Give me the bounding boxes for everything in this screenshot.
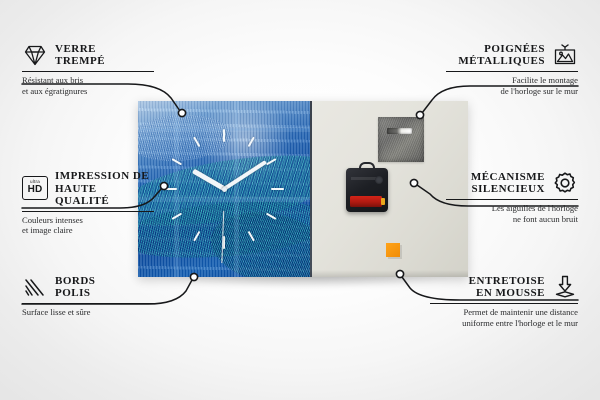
movement-time-set-dial — [375, 176, 383, 184]
hd-badge-hd-text: HD — [28, 185, 43, 195]
clock-tick-3 — [224, 188, 284, 190]
polished-edge-icon — [22, 274, 48, 300]
gear-icon — [552, 170, 578, 196]
foam-spacer — [386, 243, 400, 257]
callout-title: MÉCANISME SILENCIEUX — [471, 171, 545, 196]
callout-title: ENTRETOISE EN MOUSSE — [469, 275, 545, 300]
callout-title: IMPRESSION DE HAUTE QUALITÉ — [55, 170, 154, 208]
clock-center-pivot — [222, 187, 227, 192]
product-photo — [138, 101, 468, 277]
callout-header-row: ultra HD IMPRESSION DE HAUTE QUALITÉ — [22, 170, 154, 208]
foam-spacer-arrow-icon — [552, 274, 578, 300]
callout-title: BORDS POLIS — [55, 275, 95, 300]
callout-underline — [446, 199, 578, 200]
callout-header-row: ENTRETOISE EN MOUSSE — [430, 274, 578, 300]
callout-bords-polis: BORDS POLIS Surface lisse et sûre — [22, 274, 154, 318]
callout-mecanisme-silencieux: MÉCANISME SILENCIEUX Les aiguilles de l'… — [446, 170, 578, 224]
callout-verre-trempe: VERRE TREMPÉ Résistant aux bris et aux é… — [22, 42, 154, 96]
callout-poignees-metalliques: POIGNÉES MÉTALLIQUES Facilite le montage… — [446, 42, 578, 96]
callout-subtitle: Résistant aux bris et aux égratignures — [22, 75, 154, 96]
clock-back-panel — [310, 101, 468, 277]
battery — [350, 196, 382, 207]
callout-entretoise-en-mousse: ENTRETOISE EN MOUSSE Permet de maintenir… — [430, 274, 578, 328]
diamond-icon — [22, 42, 48, 68]
callout-header-row: POIGNÉES MÉTALLIQUES — [446, 42, 578, 68]
callout-impression-hd: ultra HD IMPRESSION DE HAUTE QUALITÉ Cou… — [22, 170, 154, 236]
callout-underline — [430, 303, 578, 304]
clock-front-face — [138, 101, 310, 277]
callout-header-row: MÉCANISME SILENCIEUX — [446, 170, 578, 196]
callout-underline — [22, 303, 154, 304]
callout-subtitle: Surface lisse et sûre — [22, 307, 154, 317]
callout-underline — [446, 71, 578, 72]
clock-side-edge — [310, 101, 312, 277]
callout-subtitle: Les aiguilles de l'horloge ne font aucun… — [446, 203, 578, 224]
wall-mount-frame-icon — [552, 42, 578, 68]
callout-title: VERRE TREMPÉ — [55, 43, 105, 68]
ultra-hd-badge-icon: ultra HD — [22, 176, 48, 202]
clock-tick-9 — [164, 188, 224, 190]
movement-hanger-loop — [359, 162, 375, 170]
callout-subtitle: Couleurs intenses et image claire — [22, 215, 154, 236]
clock-tick-0 — [223, 129, 225, 189]
callout-header-row: VERRE TREMPÉ — [22, 42, 154, 68]
callout-header-row: BORDS POLIS — [22, 274, 154, 300]
callout-underline — [22, 71, 154, 72]
quartz-movement — [346, 168, 388, 212]
callout-title: POIGNÉES MÉTALLIQUES — [458, 43, 545, 68]
infographic-canvas: VERRE TREMPÉ Résistant aux bris et aux é… — [0, 0, 600, 400]
callout-subtitle: Facilite le montage de l'horloge sur le … — [446, 75, 578, 96]
callout-underline — [22, 211, 154, 212]
callout-subtitle: Permet de maintenir une distance uniform… — [430, 307, 578, 328]
hanger-keyhole-slot — [387, 128, 412, 134]
metal-hanger-plate — [378, 117, 424, 162]
